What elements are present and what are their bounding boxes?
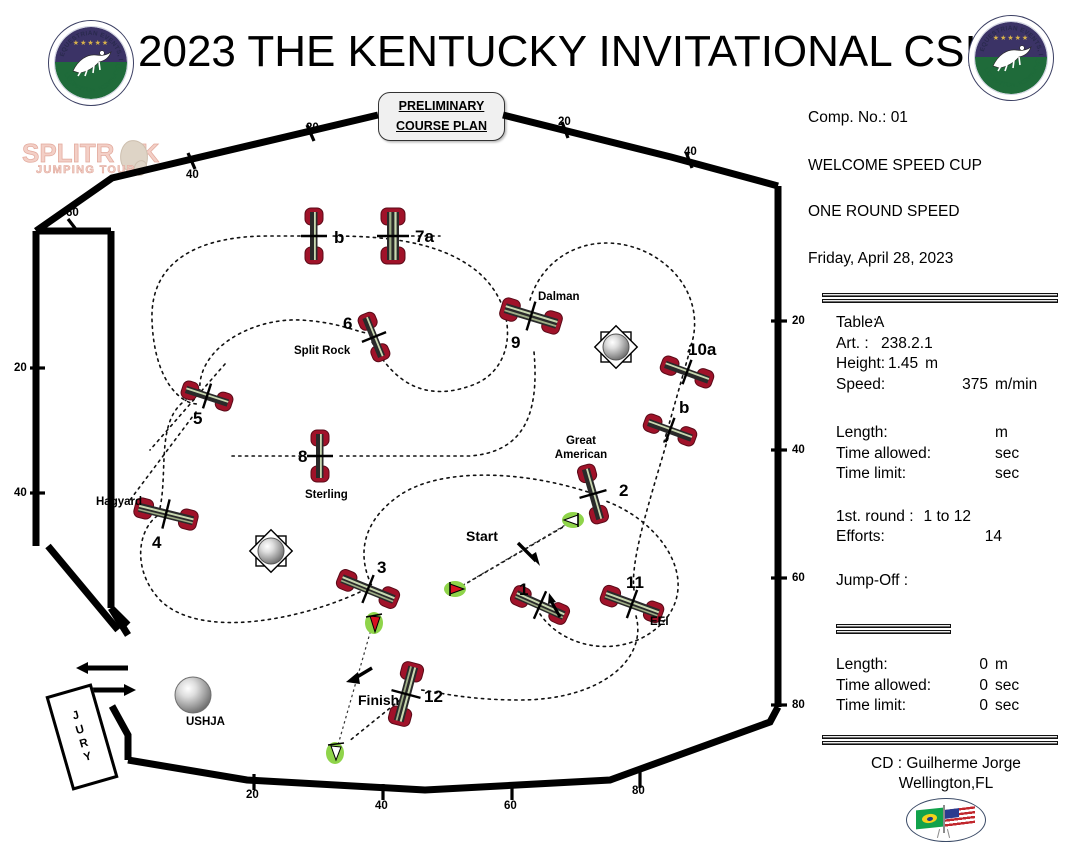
jumpoff-length: Length: 0 m <box>836 655 1070 676</box>
logo-ring-text: EQUESTRIAN EVENTS, INC. LEXINGTON, KENTU… <box>975 22 1047 94</box>
jumpoff-time-limit-label: Time limit: <box>836 696 944 717</box>
course-designer: CD : Guilherme Jorge <box>822 756 1070 772</box>
obstacle-label-10b: b <box>679 398 689 418</box>
obstacle-label-8: 8 <box>298 447 307 467</box>
obstacle-7a <box>377 208 409 264</box>
competition-date: Friday, April 28, 2023 <box>808 251 1070 267</box>
start-line <box>444 512 584 597</box>
flag-stand-right <box>947 828 951 837</box>
obstacle-label-5: 5 <box>193 409 202 429</box>
class-name: WELCOME SPEED CUP <box>808 158 1070 174</box>
tick-label-top-left-40: 40 <box>186 169 199 181</box>
usa-flag-icon <box>945 806 975 829</box>
round1-time-limit-label: Time limit: <box>836 464 944 485</box>
sponsor-label-split-rock: Split Rock <box>294 345 350 357</box>
spec-speed: Speed: 375 m/min <box>836 375 1070 396</box>
obstacle-6 <box>353 309 396 365</box>
tick-label-top-left-20: 20 <box>306 122 319 134</box>
jumpoff-time-allowed-label: Time allowed: <box>836 676 944 697</box>
spec-speed-value: 375 <box>944 375 988 396</box>
decoration-label-ushja: USHJA <box>186 716 225 728</box>
obstacle-label-2: 2 <box>619 481 628 501</box>
obstacle-label-7b: b <box>334 228 344 248</box>
divider-1 <box>822 293 1058 304</box>
obstacle-10b <box>640 409 700 452</box>
divider-3 <box>822 735 1058 746</box>
tick-label-right-20: 20 <box>792 315 805 327</box>
obstacle-label-4: 4 <box>152 533 161 553</box>
obstacle-label-6: 6 <box>343 314 352 334</box>
finish-label: Finish <box>358 692 399 708</box>
tick-label-bottom-80: 80 <box>632 785 645 797</box>
svg-text:LEXINGTON, KENTUCKY: LEXINGTON, KENTUCKY <box>982 56 1042 89</box>
decoration-star-box-left <box>250 530 292 572</box>
obstacle-5 <box>178 376 235 417</box>
competition-number: Comp. No.: 01 <box>808 110 1070 126</box>
jumpoff-title: Jump-Off : <box>836 573 1070 589</box>
jumpoff-time-limit-value: 0 <box>944 696 988 717</box>
spec-height-value: 1.45 <box>888 354 918 375</box>
obstacle-1-arrowhead <box>548 593 556 604</box>
sponsor-label-hagyard: Hagyard <box>96 496 142 508</box>
spec-table-value: A <box>874 313 884 334</box>
brazil-flag-icon <box>916 807 943 829</box>
spec-height: Height: 1.45 m <box>836 354 1070 375</box>
sponsor-label-dalman: Dalman <box>538 291 580 303</box>
jumpoff-time-allowed-unit: sec <box>988 676 1019 697</box>
jumpoff-length-label: Length: <box>836 655 944 676</box>
round1-time-allowed-label: Time allowed: <box>836 444 944 465</box>
jumpoff-length-value: 0 <box>944 655 988 676</box>
tick-label-right-60: 60 <box>792 572 805 584</box>
spec-article-value: 238.2.1 <box>881 334 933 355</box>
brazil-usa-flags-icon <box>906 798 986 842</box>
obstacle-3 <box>333 563 404 615</box>
round1-length: Length: m <box>836 423 1070 444</box>
logo-disc: ★★★★★ EQUESTRIAN EVENTS, INC. LEXINGTON,… <box>974 21 1048 95</box>
spec-speed-label: Speed: <box>836 375 944 396</box>
round1-order-value: 1 to 12 <box>914 507 971 528</box>
spec-table: Table: A <box>836 313 1070 334</box>
spec-article: Art. : 238.2.1 <box>836 334 1070 355</box>
jumpoff-length-unit: m <box>988 655 1008 676</box>
round1-length-unit: m <box>988 423 1008 444</box>
round1-efforts-label: Efforts: <box>836 527 944 548</box>
obstacle-7b <box>301 208 327 264</box>
finish-line <box>326 612 383 764</box>
competition-info-panel: Comp. No.: 01 WELCOME SPEED CUP ONE ROUN… <box>808 100 1070 820</box>
spec-speed-unit: m/min <box>988 375 1037 396</box>
round1-efforts-value: 14 <box>944 527 1002 548</box>
tick-label-right-80: 80 <box>792 699 805 711</box>
jumpoff-time-allowed: Time allowed: 0 sec <box>836 676 1070 697</box>
svg-text:EQUESTRIAN EVENTS, INC.: EQUESTRIAN EVENTS, INC. <box>975 22 1044 56</box>
spec-height-unit: m <box>918 354 938 375</box>
tick-label-bottom-40: 40 <box>375 800 388 812</box>
flag-stand-left <box>937 828 941 837</box>
obstacle-1 <box>506 579 573 631</box>
tick-label-top-left-60: 60 <box>66 207 79 219</box>
round1-length-value <box>944 423 988 444</box>
round1-length-label: Length: <box>836 423 944 444</box>
round1-efforts: Efforts: 14 <box>836 527 1070 548</box>
round1-time-limit: Time limit: sec <box>836 464 1070 485</box>
obstacle-label-1: 1 <box>519 580 528 600</box>
equestrian-events-logo-right: ★★★★★ EQUESTRIAN EVENTS, INC. LEXINGTON,… <box>968 15 1054 101</box>
obstacle-8 <box>307 430 333 482</box>
tick-label-left-40: 40 <box>14 487 27 499</box>
decoration-ushja-ball <box>175 677 211 713</box>
jumpoff-time-allowed-value: 0 <box>944 676 988 697</box>
obstacle-label-7a: 7a <box>415 227 434 247</box>
tick-label-top-right-20: 20 <box>558 116 571 128</box>
decoration-star-box-right <box>595 326 637 368</box>
obstacle-label-9: 9 <box>511 333 520 353</box>
jumpoff-time-limit: Time limit: 0 sec <box>836 696 1070 717</box>
round1-time-allowed: Time allowed: sec <box>836 444 1070 465</box>
tick-label-left-20: 20 <box>14 362 27 374</box>
tick-label-bottom-20: 20 <box>246 789 259 801</box>
course-designer-location: Wellington,FL <box>822 776 1070 792</box>
round1-time-allowed-unit: sec <box>988 444 1019 465</box>
obstacle-label-10a: 10a <box>688 340 716 360</box>
tick-label-bottom-60: 60 <box>504 800 517 812</box>
obstacle-label-3: 3 <box>377 558 386 578</box>
round1-order-label: 1st. round : <box>836 507 914 528</box>
jumpoff-time-limit-unit: sec <box>988 696 1019 717</box>
sponsor-label-great-american: GreatAmerican <box>550 434 612 463</box>
obstacle-label-12: 12 <box>424 687 443 707</box>
round1-time-limit-unit: sec <box>988 464 1019 485</box>
sponsor-label-sterling: Sterling <box>305 489 348 501</box>
spec-table-label: Table: <box>836 313 944 334</box>
divider-2 <box>836 624 1070 635</box>
class-format: ONE ROUND SPEED <box>808 204 1070 220</box>
sponsor-label-eei: EEI <box>650 616 669 628</box>
round1-time-allowed-value <box>944 444 988 465</box>
start-label: Start <box>466 528 498 544</box>
tick-label-right-40: 40 <box>792 444 805 456</box>
jury-label: JURY <box>70 708 94 766</box>
tick-label-top-right-40: 40 <box>684 146 697 158</box>
round1-order: 1st. round : 1 to 12 <box>836 507 1070 528</box>
obstacle-label-11: 11 <box>626 573 644 593</box>
round1-time-limit-value <box>944 464 988 485</box>
